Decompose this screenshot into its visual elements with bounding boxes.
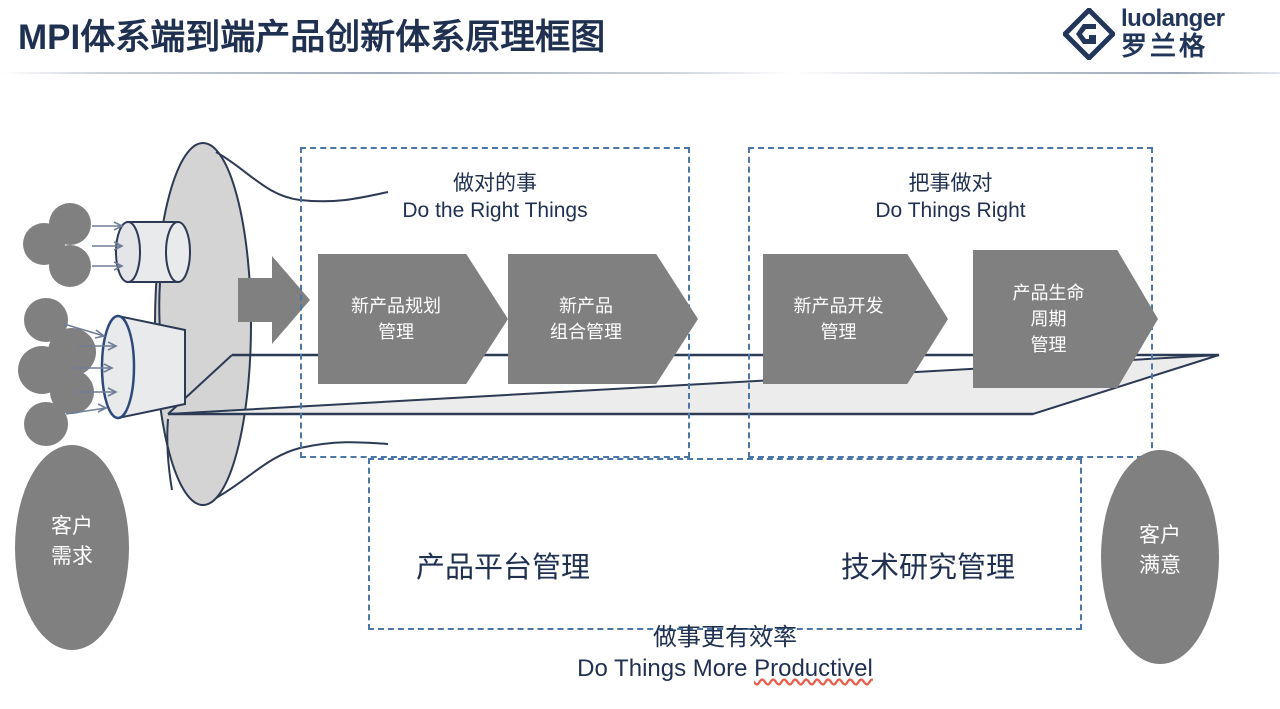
foundation-caption-cn: 做事更有效率: [368, 622, 1082, 653]
cylinder-shape-icon: [116, 222, 190, 282]
foundation-caption-en-misspelled-word: Productivel: [754, 655, 873, 682]
foundation-label-product-platform: 产品平台管理: [416, 544, 590, 586]
page-header: MPI体系端到端产品创新体系原理框图 luolanger 罗兰格: [0, 0, 1280, 74]
foundation-caption-en-prefix: Do Things More: [577, 655, 754, 682]
group-caption-en: Do the Right Things: [300, 197, 690, 224]
endpoint-line-1: 客户: [1139, 521, 1181, 551]
group-caption-cn: 做对的事: [300, 170, 690, 197]
input-dot-cluster-bottom: [18, 298, 96, 446]
endpoint-line-2: 满意: [1139, 551, 1181, 581]
group-caption-do-things-right: 把事做对 Do Things Right: [748, 170, 1153, 224]
step-line-2: 周期: [1013, 306, 1085, 332]
step-line-2: 组合管理: [550, 319, 622, 345]
input-dot-cluster-top: [23, 203, 91, 287]
foundation-label-technology-research: 技术研究管理: [841, 544, 1015, 586]
step-line-2: 管理: [351, 319, 441, 345]
page-title: MPI体系端到端产品创新体系原理框图: [18, 9, 605, 60]
logo-chinese-text: 罗兰格: [1121, 32, 1261, 60]
group-caption-do-right-things: 做对的事 Do the Right Things: [300, 170, 690, 224]
gateway-ellipse: [155, 143, 251, 505]
endpoint-line-1: 客户: [51, 512, 93, 542]
endpoint-line-2: 需求: [51, 542, 93, 572]
step-line-1: 产品生命: [1013, 280, 1085, 306]
step-line-1: 新产品规划: [351, 293, 441, 319]
group-caption-cn: 把事做对: [748, 170, 1153, 197]
foundation-caption-en: Do Things More Productivel: [368, 653, 1082, 684]
foundation-caption: 做事更有效率 Do Things More Productivel: [368, 622, 1082, 684]
step-line-1: 新产品开发: [794, 293, 884, 319]
logo-wordmark: luolanger 罗兰格: [1121, 6, 1261, 60]
endpoint-customer-demand[interactable]: 客户 需求: [15, 445, 129, 650]
group-caption-en: Do Things Right: [748, 197, 1153, 224]
step-line-1: 新产品: [550, 293, 622, 319]
endpoint-customer-satisfaction[interactable]: 客户 满意: [1101, 450, 1219, 664]
diamond-g-logo-icon: [1063, 8, 1115, 60]
step-line-2: 管理: [794, 319, 884, 345]
funnel-cone-shape-icon: [102, 316, 185, 418]
diagram-canvas: 做对的事 Do the Right Things 把事做对 Do Things …: [0, 74, 1280, 709]
step-line-3: 管理: [1013, 332, 1085, 358]
logo-latin-text: luolanger: [1121, 6, 1261, 32]
brand-logo: luolanger 罗兰格: [1063, 4, 1258, 64]
